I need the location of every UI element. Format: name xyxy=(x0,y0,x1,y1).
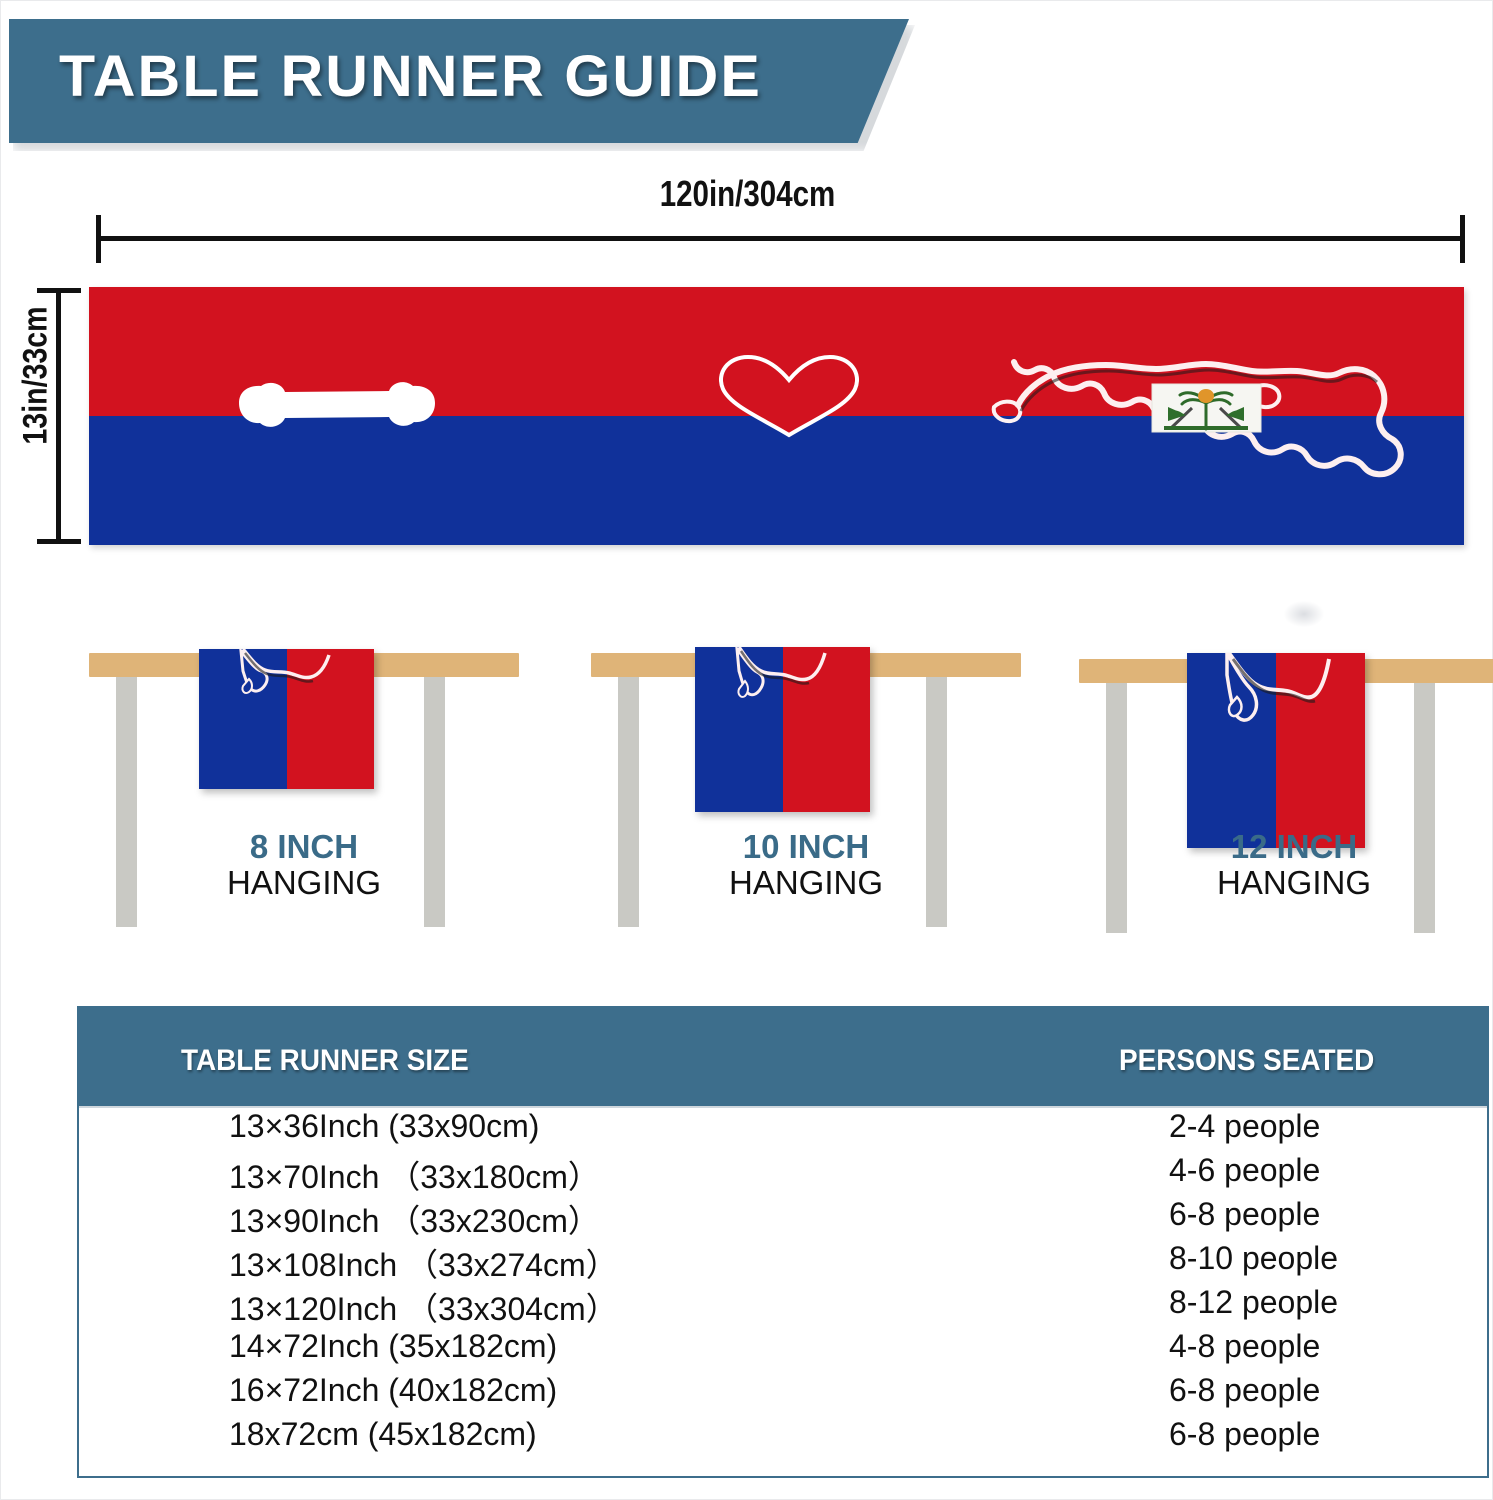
cell-persons-seated: 6-8 people xyxy=(1169,1416,1320,1453)
cell-persons-seated: 4-8 people xyxy=(1169,1328,1320,1365)
cell-runner-size: 18x72cm (45x182cm) xyxy=(229,1416,537,1453)
table-row: 13×90Inch （33x230cm） 6-8 people xyxy=(79,1196,1487,1240)
column-header-persons: PERSONS SEATED xyxy=(1119,1044,1374,1078)
hanging-size-label: 10 INCH xyxy=(571,829,1041,865)
runner-height-label: 13in/33cm xyxy=(17,266,56,484)
cell-persons-seated: 6-8 people xyxy=(1169,1372,1320,1409)
hanging-example-12-inch: 12 INCH HANGING xyxy=(1059,601,1493,941)
guide-page: TABLE RUNNER GUIDE 120in/304cm 13in/33cm xyxy=(0,0,1493,1500)
image-smudge-artifact xyxy=(1284,601,1324,627)
hanging-size-label: 12 INCH xyxy=(1059,829,1493,865)
cell-runner-size: 14×72Inch (35x182cm) xyxy=(229,1328,557,1365)
runner-hanging-cloth xyxy=(695,647,870,812)
hanging-caption: 12 INCH HANGING xyxy=(1059,829,1493,900)
hanging-caption: 10 INCH HANGING xyxy=(571,829,1041,900)
cloth-map-outline xyxy=(1187,653,1365,848)
cloth-map-outline xyxy=(695,647,870,812)
table-row: 13×108Inch （33x274cm） 8-10 people xyxy=(79,1240,1487,1284)
width-dimension-cap-left xyxy=(96,215,101,263)
table-row: 16×72Inch (40x182cm) 6-8 people xyxy=(79,1372,1487,1416)
runner-hanging-cloth xyxy=(1187,653,1365,848)
cell-runner-size: 16×72Inch (40x182cm) xyxy=(229,1372,557,1409)
hanging-caption: 8 INCH HANGING xyxy=(69,829,539,900)
column-header-size: TABLE RUNNER SIZE xyxy=(181,1044,469,1078)
cloth-map-outline xyxy=(199,649,374,789)
runner-preview-image xyxy=(89,287,1464,545)
table-row: 13×120Inch （33x304cm） 8-12 people xyxy=(79,1284,1487,1328)
cell-persons-seated: 2-4 people xyxy=(1169,1108,1320,1145)
cell-runner-size: 13×108Inch （33x274cm） xyxy=(229,1240,618,1286)
hanging-example-8-inch: 8 INCH HANGING xyxy=(69,601,539,941)
hanging-examples-row: 8 INCH HANGING 10 INCH HANGING xyxy=(1,601,1493,941)
height-dimension-line xyxy=(56,289,61,543)
hanging-sub-label: HANGING xyxy=(571,865,1041,901)
size-table: TABLE RUNNER SIZE PERSONS SEATED 13×36In… xyxy=(77,1006,1489,1478)
cell-persons-seated: 4-6 people xyxy=(1169,1152,1320,1189)
haiti-coat-of-arms xyxy=(1152,384,1261,432)
table-row: 13×36Inch (33x90cm) 2-4 people xyxy=(79,1108,1487,1152)
hanging-sub-label: HANGING xyxy=(69,865,539,901)
heart-shape xyxy=(721,357,857,435)
size-table-body: 13×36Inch (33x90cm) 2-4 people 13×70Inch… xyxy=(79,1108,1487,1478)
cell-runner-size: 13×70Inch （33x180cm） xyxy=(229,1152,600,1198)
cell-runner-size: 13×90Inch （33x230cm） xyxy=(229,1196,600,1242)
cell-runner-size: 13×120Inch （33x304cm） xyxy=(229,1284,618,1330)
hanging-example-10-inch: 10 INCH HANGING xyxy=(571,601,1041,941)
table-row: 18x72cm (45x182cm) 6-8 people xyxy=(79,1416,1487,1460)
hanging-sub-label: HANGING xyxy=(1059,865,1493,901)
cell-runner-size: 13×36Inch (33x90cm) xyxy=(229,1108,539,1145)
table-row: 13×70Inch （33x180cm） 4-6 people xyxy=(79,1152,1487,1196)
cell-persons-seated: 6-8 people xyxy=(1169,1196,1320,1233)
width-dimension-cap-right xyxy=(1460,215,1465,263)
height-dimension-cap-bottom xyxy=(37,539,81,544)
bone-shape xyxy=(239,382,435,427)
runner-motif-svg xyxy=(89,287,1464,545)
height-dimension-cap-top xyxy=(37,288,81,293)
runner-width-label: 120in/304cm xyxy=(135,173,1359,215)
width-dimension-line xyxy=(98,236,1464,241)
hanging-size-label: 8 INCH xyxy=(69,829,539,865)
table-row: 14×72Inch (35x182cm) 4-8 people xyxy=(79,1328,1487,1372)
size-table-header: TABLE RUNNER SIZE PERSONS SEATED xyxy=(79,1008,1487,1108)
page-title: TABLE RUNNER GUIDE xyxy=(59,43,762,110)
cell-persons-seated: 8-10 people xyxy=(1169,1240,1338,1277)
cell-persons-seated: 8-12 people xyxy=(1169,1284,1338,1321)
runner-hanging-cloth xyxy=(199,649,374,789)
